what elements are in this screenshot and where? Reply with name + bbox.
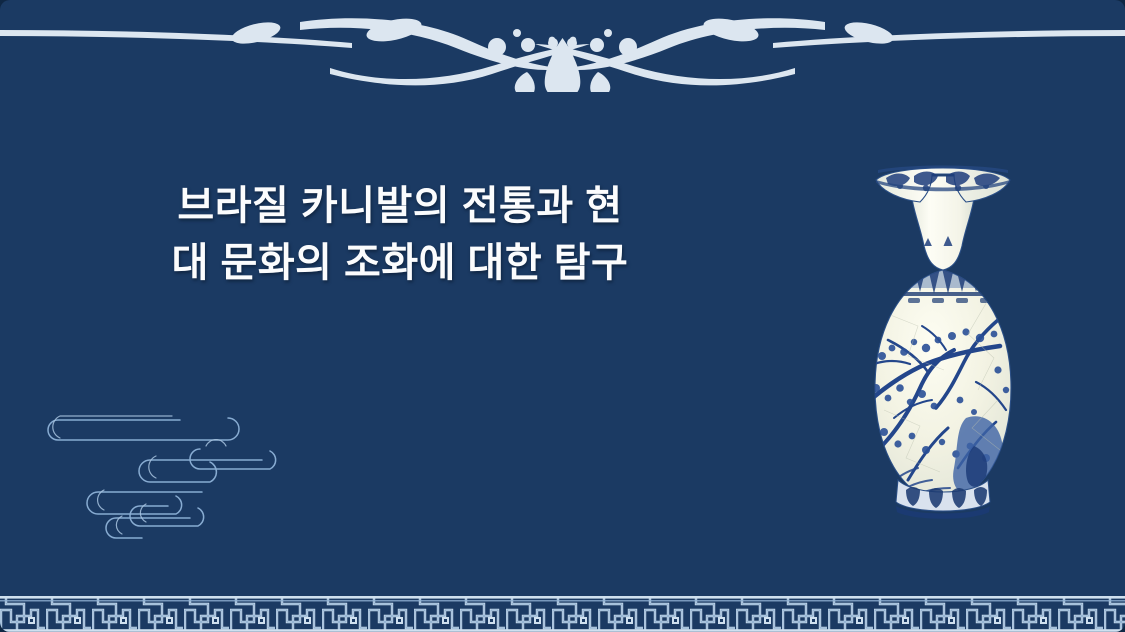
page-title: 브라질 카니발의 전통과 현 대 문화의 조화에 대한 탐구: [0, 178, 800, 292]
title-line-1: 브라질 카니발의 전통과 현: [0, 178, 800, 235]
floral-flourish-ornament: [0, 0, 1125, 92]
greek-key-meander-border: [0, 596, 1125, 632]
blue-white-porcelain-vase: [848, 150, 1038, 530]
title-line-2: 대 문화의 조화에 대한 탐구: [0, 235, 800, 292]
title-slide: 브라질 카니발의 전통과 현 대 문화의 조화에 대한 탐구: [0, 0, 1125, 632]
cloud-wave-motif: [30, 408, 310, 583]
